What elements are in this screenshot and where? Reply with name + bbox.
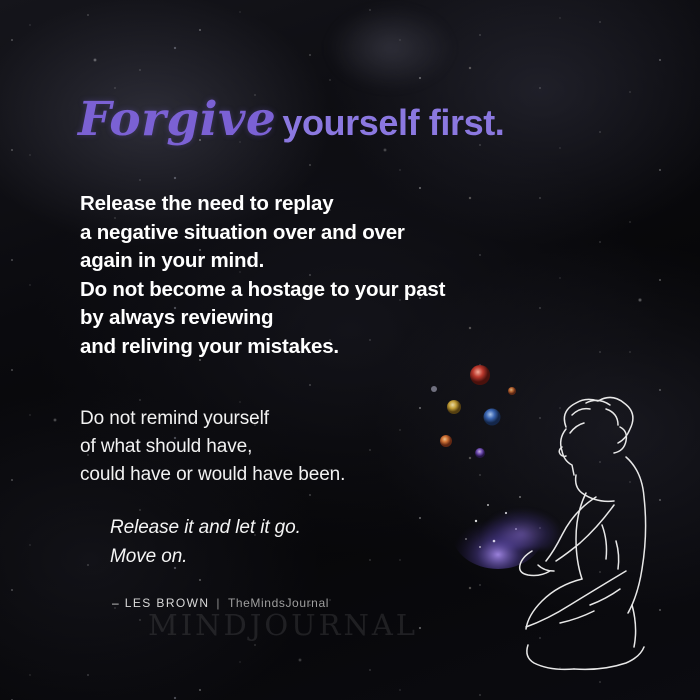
credit-brand: TheMindsJournal [228,596,329,610]
body-italic-text: Release it and let it go. Move on. [110,513,301,571]
poster-content: Forgiveyourself first. Release the need … [0,0,700,700]
credit-separator: | [216,596,221,610]
headline: Forgiveyourself first. [78,92,504,147]
credit-line: – LES BROWN | TheMindsJournal [112,596,329,610]
credit-author: – LES BROWN [112,596,209,610]
headline-bold-rest: yourself first. [282,102,504,143]
body-regular-text: Do not remind yourself of what should ha… [80,405,345,489]
body-bold-text: Release the need to replay a negative si… [80,190,445,361]
headline-script-word: Forgive [78,92,276,147]
watermark-text: MINDJOURNAL [148,608,418,642]
quote-poster: Forgiveyourself first. Release the need … [0,0,700,700]
